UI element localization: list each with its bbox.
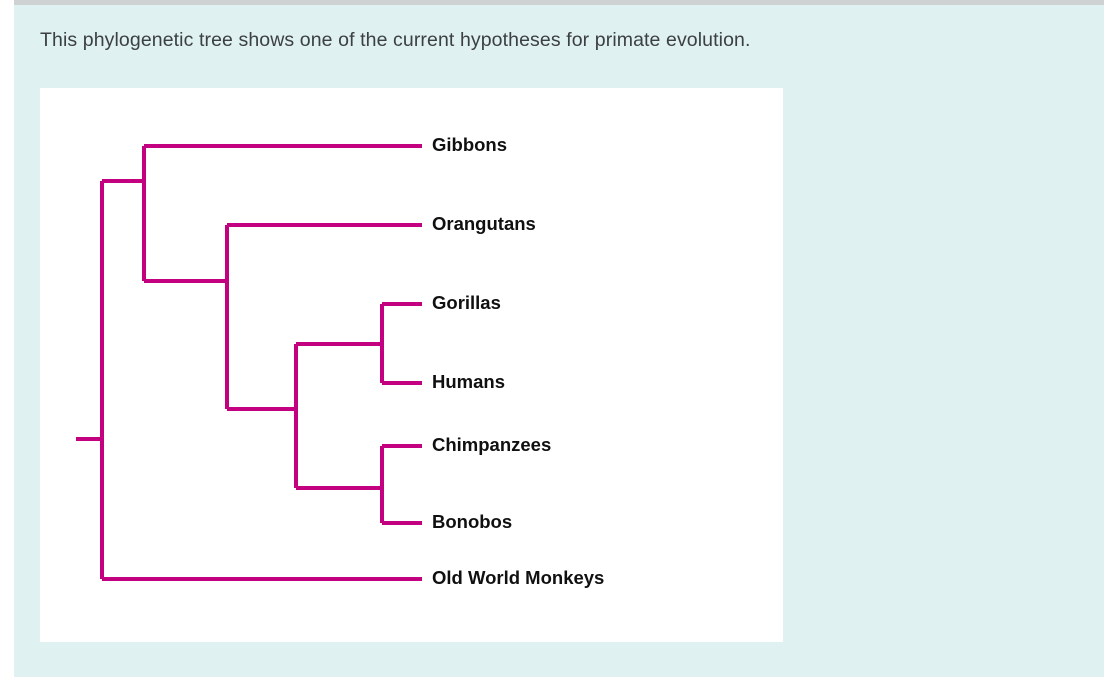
- tree-branches: [76, 146, 422, 579]
- tip-label-bonobos: Bonobos: [432, 511, 512, 532]
- tree-tip-labels: Gibbons Orangutans Gorillas Humans Chimp…: [432, 134, 604, 588]
- figure-caption: This phylogenetic tree shows one of the …: [40, 27, 1080, 53]
- figure-card: This phylogenetic tree shows one of the …: [14, 5, 1104, 677]
- tip-label-gorillas: Gorillas: [432, 292, 501, 313]
- tip-label-chimpanzees: Chimpanzees: [432, 434, 551, 455]
- tip-label-orangutans: Orangutans: [432, 213, 536, 234]
- tree-figure-panel: Gibbons Orangutans Gorillas Humans Chimp…: [40, 88, 783, 642]
- phylogenetic-tree-svg: Gibbons Orangutans Gorillas Humans Chimp…: [40, 88, 783, 642]
- tip-label-humans: Humans: [432, 371, 505, 392]
- tip-label-gibbons: Gibbons: [432, 134, 507, 155]
- tip-label-old-world-monkeys: Old World Monkeys: [432, 567, 604, 588]
